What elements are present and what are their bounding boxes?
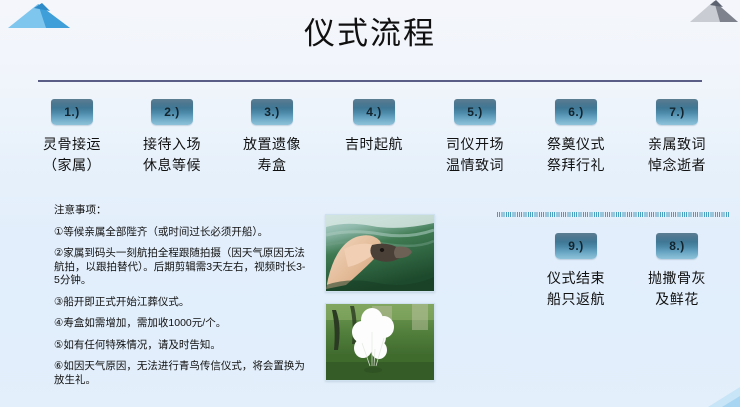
step-item-9[interactable]: 9.) 仪式结束 船只返航 xyxy=(528,233,624,310)
step-item-4[interactable]: 4.) 吉时起航 xyxy=(326,99,422,155)
step-label-line: 祭奠仪式 xyxy=(528,134,624,155)
step-label-line: 船只返航 xyxy=(528,289,624,310)
white-balloons-image xyxy=(326,304,434,380)
dotted-divider xyxy=(497,212,730,217)
step-badge-number: 5.) xyxy=(454,99,496,125)
step-badge-number: 1.) xyxy=(51,99,93,125)
step-label: 灵骨接运 （家属） xyxy=(24,134,120,176)
step-badge-number: 3.) xyxy=(251,99,293,125)
step-label: 放置遗像 寿盒 xyxy=(224,134,320,176)
step-badge-number: 6.) xyxy=(555,99,597,125)
step-label: 仪式结束 船只返航 xyxy=(528,268,624,310)
step-badge-number: 9.) xyxy=(555,233,597,259)
fish-release-image xyxy=(326,215,434,291)
notes-heading: 注意事项： xyxy=(54,204,310,218)
step-item-3[interactable]: 3.) 放置遗像 寿盒 xyxy=(224,99,320,176)
step-badge-number: 8.) xyxy=(656,233,698,259)
note-item: ③船开即正式开始江葬仪式。 xyxy=(54,296,310,310)
step-item-1[interactable]: 1.) 灵骨接运 （家属） xyxy=(24,99,120,176)
step-label-line: 亲属致词 xyxy=(629,134,725,155)
note-item: ①等候亲属全部陛齐（或时间过长必须开船）。 xyxy=(54,226,310,240)
note-item: ⑤如有任何特殊情况，请及时告知。 xyxy=(54,339,310,353)
step-item-7[interactable]: 7.) 亲属致词 悼念逝者 xyxy=(629,99,725,176)
step-label-line: 仪式结束 xyxy=(528,268,624,289)
photo-fish-release xyxy=(325,214,435,292)
step-label: 吉时起航 xyxy=(326,134,422,155)
step-label-line: （家属） xyxy=(24,155,120,176)
step-label-line: 休息等候 xyxy=(124,155,220,176)
step-item-8[interactable]: 8.) 抛撒骨灰 及鲜花 xyxy=(629,233,725,310)
step-label: 亲属致词 悼念逝者 xyxy=(629,134,725,176)
bottom-right-triangle-icon xyxy=(688,383,740,407)
notes-block: 注意事项： ①等候亲属全部陛齐（或时间过长必须开船）。 ②家属到码头一刻航拍全程… xyxy=(54,204,310,395)
step-label-line: 及鲜花 xyxy=(629,289,725,310)
step-item-6[interactable]: 6.) 祭奠仪式 祭拜行礼 xyxy=(528,99,624,176)
step-label-line: 司仪开场 xyxy=(427,134,523,155)
step-label-line: 寿盒 xyxy=(224,155,320,176)
step-label-line: 抛撒骨灰 xyxy=(629,268,725,289)
note-item: ④寿盒如需增加，需加收1000元/个。 xyxy=(54,317,310,331)
step-badge-number: 2.) xyxy=(151,99,193,125)
note-item: ⑥如因天气原因，无法进行青鸟传信仪式，将会置换为放生礼。 xyxy=(54,360,310,387)
note-item: ②家属到码头一刻航拍全程跟随拍摄（因天气原因无法航拍，以跟拍替代）。后期剪辑需3… xyxy=(54,247,310,288)
step-item-5[interactable]: 5.) 司仪开场 温情致词 xyxy=(427,99,523,176)
step-label-line: 祭拜行礼 xyxy=(528,155,624,176)
title-divider xyxy=(38,80,702,82)
step-label-line: 放置遗像 xyxy=(224,134,320,155)
step-label: 祭奠仪式 祭拜行礼 xyxy=(528,134,624,176)
step-label: 抛撒骨灰 及鲜花 xyxy=(629,268,725,310)
step-badge-number: 7.) xyxy=(656,99,698,125)
slide-canvas: 仪式流程 1.) 灵骨接运 （家属） 2.) 接待入场 休息等候 3.) 放置遗… xyxy=(0,0,740,407)
step-label: 接待入场 休息等候 xyxy=(124,134,220,176)
step-label-line: 灵骨接运 xyxy=(24,134,120,155)
step-label-line: 吉时起航 xyxy=(326,134,422,155)
step-label: 司仪开场 温情致词 xyxy=(427,134,523,176)
step-label-line: 接待入场 xyxy=(124,134,220,155)
step-label-line: 温情致词 xyxy=(427,155,523,176)
step-item-2[interactable]: 2.) 接待入场 休息等候 xyxy=(124,99,220,176)
step-badge-number: 4.) xyxy=(353,99,395,125)
photo-white-balloons xyxy=(325,303,435,381)
page-title: 仪式流程 xyxy=(0,12,740,56)
step-label-line: 悼念逝者 xyxy=(629,155,725,176)
